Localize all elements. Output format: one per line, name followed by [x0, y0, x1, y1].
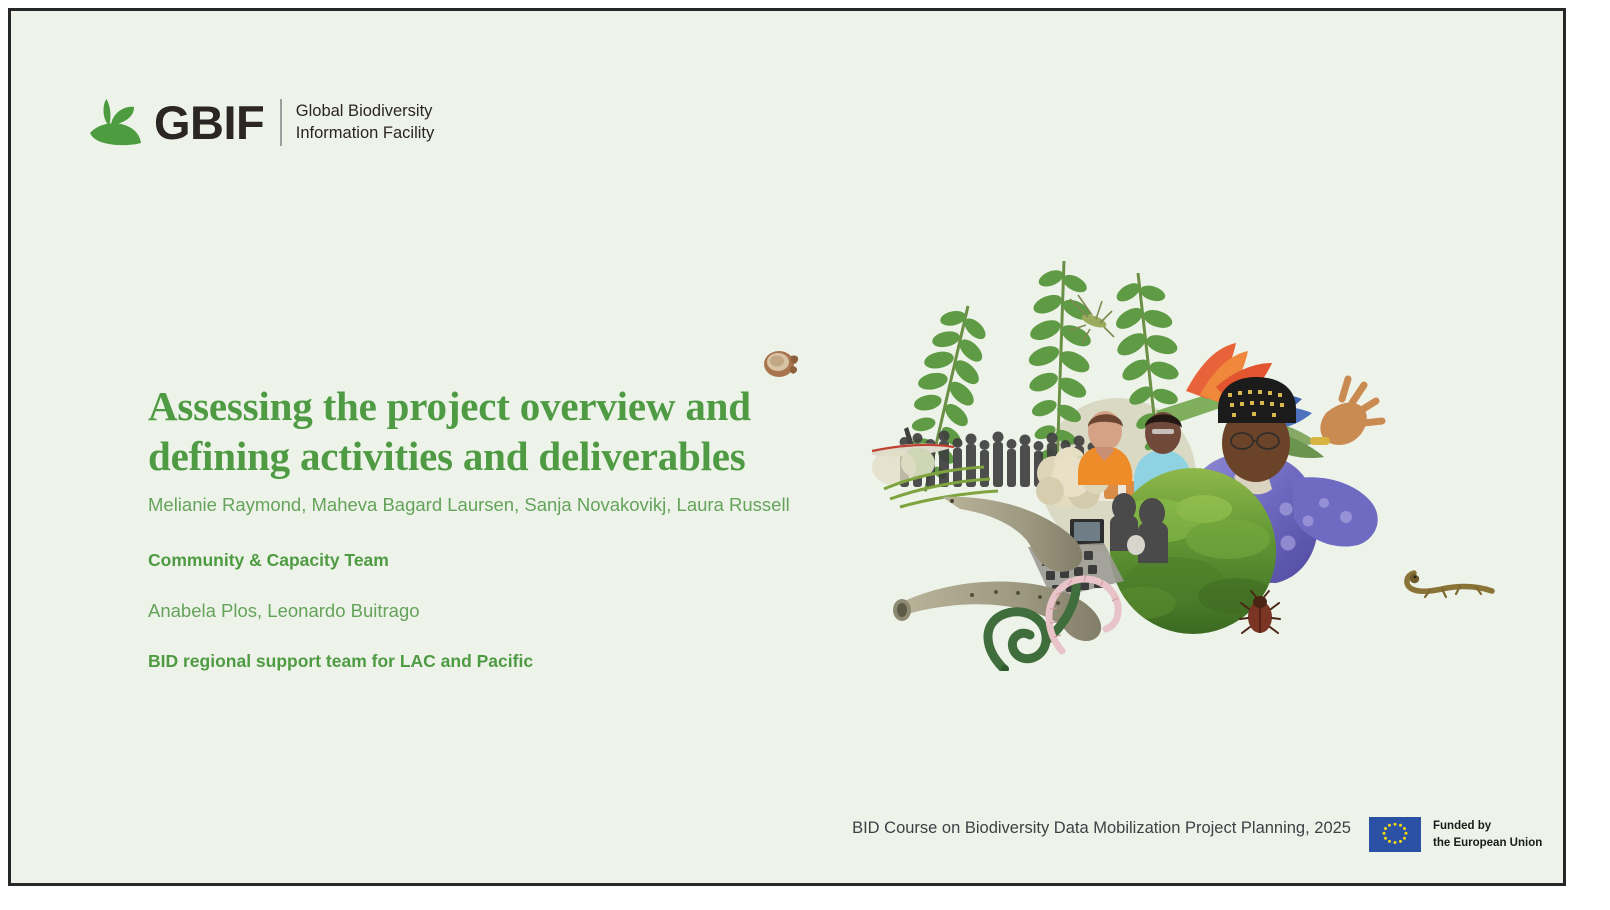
logo-divider	[280, 99, 282, 146]
authors-primary: Melianie Raymond, Maheva Bagard Laursen,…	[148, 493, 868, 518]
eu-funding-line1: Funded by	[1433, 820, 1491, 832]
footer-caption: BID Course on Biodiversity Data Mobiliza…	[811, 819, 1351, 838]
slide-canvas: GBIF Global Biodiversity Information Fac…	[8, 8, 1566, 886]
snail-shell-icon	[761, 344, 801, 380]
page-title-line-2: defining activities and deliverables	[148, 431, 868, 481]
team-label-secondary: BID regional support team for LAC and Pa…	[148, 651, 868, 672]
page-title-line-1: Assessing the project overview and	[148, 381, 868, 431]
eu-funding-logo: Funded by the European Union	[1369, 817, 1542, 852]
biodiversity-collage	[856, 251, 1416, 671]
page-title: Assessing the project overview and defin…	[148, 381, 868, 481]
authors-secondary: Anabela Plos, Leonardo Buitrago	[148, 600, 868, 622]
team-label-primary: Community & Capacity Team	[148, 550, 868, 571]
gbif-logo-subtitle: Global Biodiversity Information Facility	[296, 100, 434, 145]
gbif-subtitle-line1: Global Biodiversity	[296, 102, 433, 120]
title-block: Assessing the project overview and defin…	[148, 381, 868, 672]
gbif-wordmark: GBIF	[154, 99, 264, 146]
eu-funding-text: Funded by the European Union	[1433, 818, 1542, 851]
european-union-flag-icon	[1369, 817, 1421, 852]
gbif-subtitle-line2: Information Facility	[296, 124, 434, 142]
gbif-logo: GBIF Global Biodiversity Information Fac…	[84, 91, 434, 153]
beetle-icon	[1239, 589, 1281, 637]
gbif-leaf-sprout-icon	[84, 91, 146, 153]
lizard-skink-icon	[1396, 563, 1496, 605]
eu-funding-line2: the European Union	[1433, 837, 1542, 849]
